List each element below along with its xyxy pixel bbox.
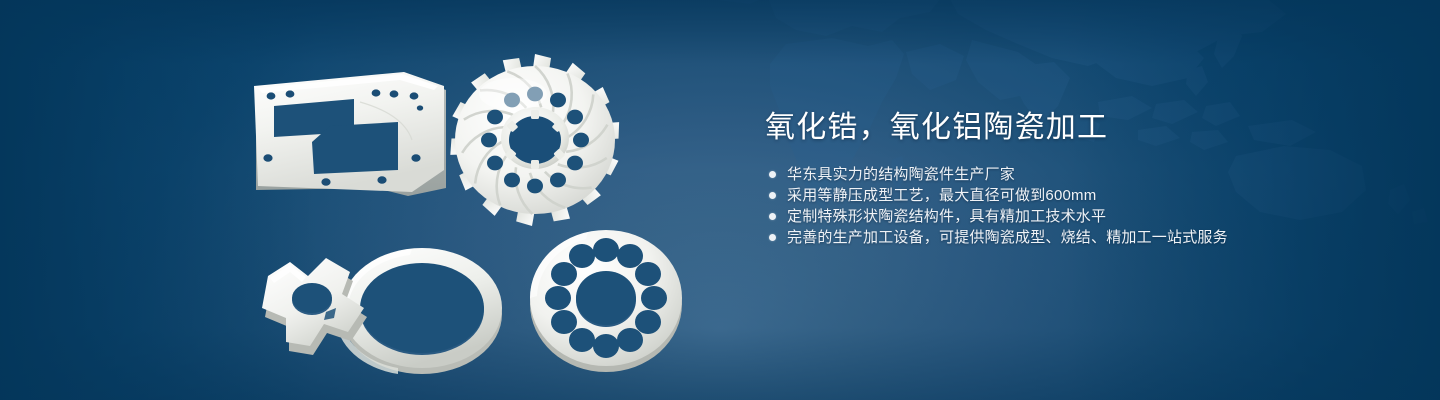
bullet-marker-icon xyxy=(769,171,776,178)
list-item: 完善的生产加工设备，可提供陶瓷成型、烧结、精加工一站式服务 xyxy=(769,227,1325,248)
list-item-label: 采用等静压成型工艺，最大直径可做到600mm xyxy=(787,185,1096,206)
list-item: 定制特殊形状陶瓷结构件，具有精加工技术水平 xyxy=(769,206,1325,227)
feature-list: 华东具实力的结构陶瓷件生产厂家 采用等静压成型工艺，最大直径可做到600mm 定… xyxy=(769,164,1325,248)
page-title: 氧化锆，氧化铝陶瓷加工 xyxy=(765,108,1325,148)
list-item-label: 完善的生产加工设备，可提供陶瓷成型、烧结、精加工一站式服务 xyxy=(787,227,1228,248)
list-item: 华东具实力的结构陶瓷件生产厂家 xyxy=(769,164,1325,185)
product-ceramic-cross-and-ring xyxy=(246,228,516,378)
product-photo-group xyxy=(230,40,730,385)
bullet-marker-icon xyxy=(769,234,776,241)
list-item-label: 华东具实力的结构陶瓷件生产厂家 xyxy=(787,164,1015,185)
product-ceramic-impeller xyxy=(442,48,632,233)
list-item: 采用等静压成型工艺，最大直径可做到600mm xyxy=(769,185,1325,206)
bullet-marker-icon xyxy=(769,213,776,220)
list-item-label: 定制特殊形状陶瓷结构件，具有精加工技术水平 xyxy=(787,206,1106,227)
bullet-marker-icon xyxy=(769,192,776,199)
copy-block: 氧化锆，氧化铝陶瓷加工 华东具实力的结构陶瓷件生产厂家 采用等静压成型工艺，最大… xyxy=(765,108,1325,248)
product-ceramic-holed-disc xyxy=(522,226,692,376)
product-ceramic-plate xyxy=(248,66,458,206)
ceramic-processing-banner: 氧化锆，氧化铝陶瓷加工 华东具实力的结构陶瓷件生产厂家 采用等静压成型工艺，最大… xyxy=(0,0,1440,400)
